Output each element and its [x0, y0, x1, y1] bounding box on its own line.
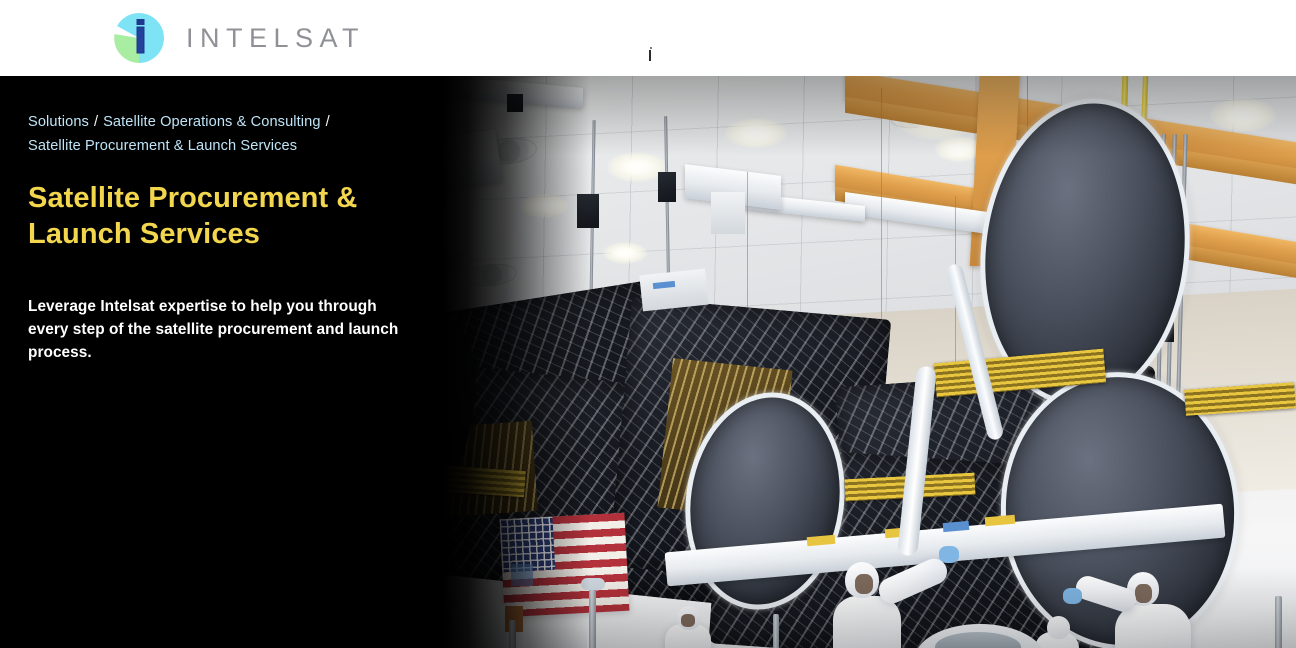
- page-root: INTELSAT: [0, 0, 1296, 648]
- breadcrumb-separator: /: [89, 114, 103, 130]
- page-title: Satellite Procurement & Launch Services: [28, 180, 404, 252]
- breadcrumb: Solutions/Satellite Operations & Consult…: [28, 110, 358, 158]
- breadcrumb-item-solutions[interactable]: Solutions: [28, 114, 89, 130]
- intelsat-circle-i-logo-icon: [110, 9, 168, 67]
- site-header: INTELSAT: [0, 0, 1296, 76]
- breadcrumb-separator-2: /: [321, 114, 335, 130]
- text-cursor-artifact: [649, 50, 651, 61]
- brand-wordmark: INTELSAT: [186, 25, 365, 52]
- breadcrumb-item-current: Satellite Procurement & Launch Services: [28, 138, 297, 154]
- hero-section: Solutions/Satellite Operations & Consult…: [0, 76, 1296, 648]
- hero-copy-panel: Solutions/Satellite Operations & Consult…: [0, 76, 432, 648]
- hero-subtitle: Leverage Intelsat expertise to help you …: [28, 295, 404, 364]
- breadcrumb-item-satellite-operations-consulting[interactable]: Satellite Operations & Consulting: [103, 114, 320, 130]
- brand-logo-link[interactable]: INTELSAT: [110, 9, 365, 67]
- hero-background-image: [415, 76, 1296, 648]
